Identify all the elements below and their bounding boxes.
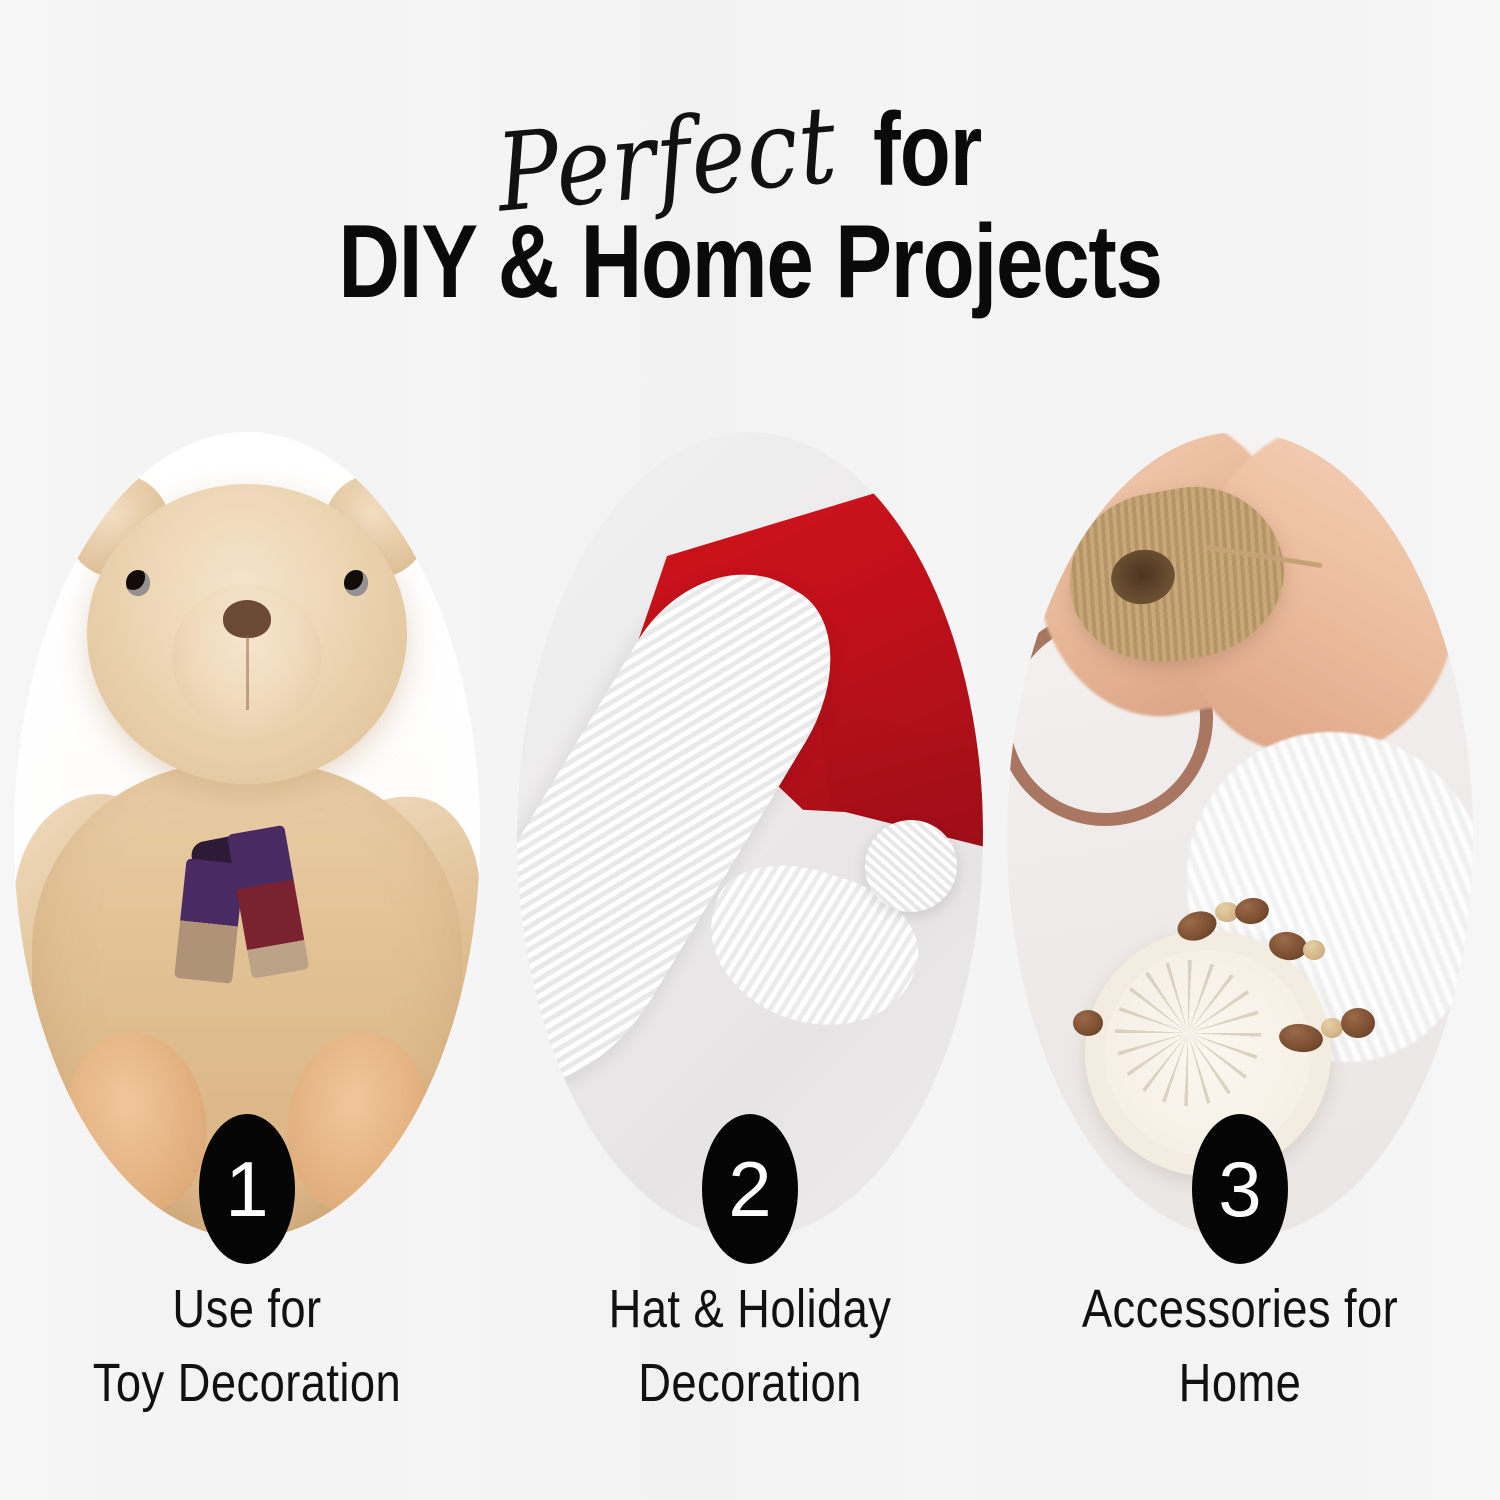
step-number-badge-3: 3 (1192, 1114, 1288, 1264)
feature-card-3[interactable]: 3 Accessories for Home (1007, 432, 1473, 1442)
card-caption-3-line-2: Home (1044, 1346, 1435, 1420)
headline-bold-word: for (873, 86, 982, 214)
santa-hat-pompom (865, 820, 957, 912)
wooden-bead (1073, 1010, 1103, 1036)
step-number-badge-1: 1 (199, 1114, 295, 1264)
feature-cards-row: 1 Use for Toy Decoration 2 Hat & Holiday (0, 432, 1500, 1442)
bear-scarf (172, 819, 330, 955)
bear-mouth (246, 636, 249, 710)
card-caption-1: Use for Toy Decoration (14, 1272, 480, 1420)
wooden-bead (1321, 1018, 1343, 1038)
headline-line-2-text: DIY & Home Projects (338, 208, 1161, 316)
bear-nose (223, 600, 271, 638)
promo-poster: Perfectfor DIY & Home Projects (0, 0, 1500, 1500)
card-caption-3: Accessories for Home (1007, 1272, 1473, 1420)
card-caption-1-line-1: Use for (51, 1272, 442, 1346)
card-caption-2: Hat & Holiday Decoration (517, 1272, 983, 1420)
feature-card-1[interactable]: 1 Use for Toy Decoration (14, 432, 480, 1442)
bear-eye-right (344, 570, 368, 596)
dreamcatcher-web (1115, 960, 1261, 1106)
card-caption-2-line-2: Decoration (554, 1346, 945, 1420)
headline-block: Perfectfor DIY & Home Projects (0, 86, 1500, 316)
bear-eye-left (126, 570, 150, 596)
card-caption-2-line-1: Hat & Holiday (554, 1272, 945, 1346)
headline-line-1: Perfectfor (0, 86, 1500, 214)
card-caption-3-line-1: Accessories for (1044, 1272, 1435, 1346)
page-title: DIY & Home Projects (0, 208, 1500, 316)
santa-hat-fur-brim (517, 534, 870, 1124)
wooden-bead (1341, 1008, 1375, 1038)
wooden-bead (1303, 940, 1325, 960)
step-number-badge-2: 2 (702, 1114, 798, 1264)
feature-card-2[interactable]: 2 Hat & Holiday Decoration (517, 432, 983, 1442)
card-caption-1-line-2: Toy Decoration (51, 1346, 442, 1420)
